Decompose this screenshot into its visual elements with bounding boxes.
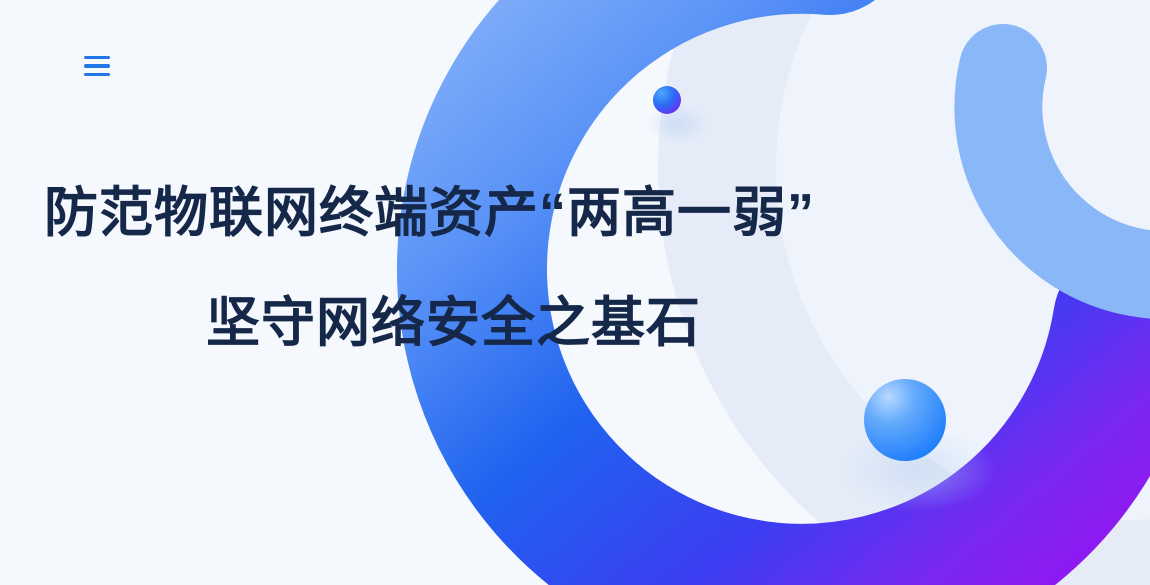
page-title-line-2: 坚守网络安全之基石 [0,296,880,350]
large-blue-sphere [840,379,996,512]
small-gradient-sphere [648,86,708,144]
hamburger-menu-icon-bar-3 [84,73,110,77]
hamburger-menu-icon-bar-1 [84,56,110,60]
large-sphere-body [864,379,946,461]
hamburger-menu-button[interactable] [84,50,116,82]
large-sphere-shadow [840,428,996,512]
small-sphere-body [653,86,681,114]
small-sphere-shadow [648,104,708,144]
page-title-line-1: 防范物联网终端资产“两高一弱” [0,186,880,240]
inner-light-blue-arc [998,68,1150,275]
page-title: 防范物联网终端资产“两高一弱” 坚守网络安全之基石 [0,186,880,350]
slide-canvas: 防范物联网终端资产“两高一弱” 坚守网络安全之基石 [0,0,1150,585]
hamburger-menu-icon-bar-2 [84,64,110,68]
